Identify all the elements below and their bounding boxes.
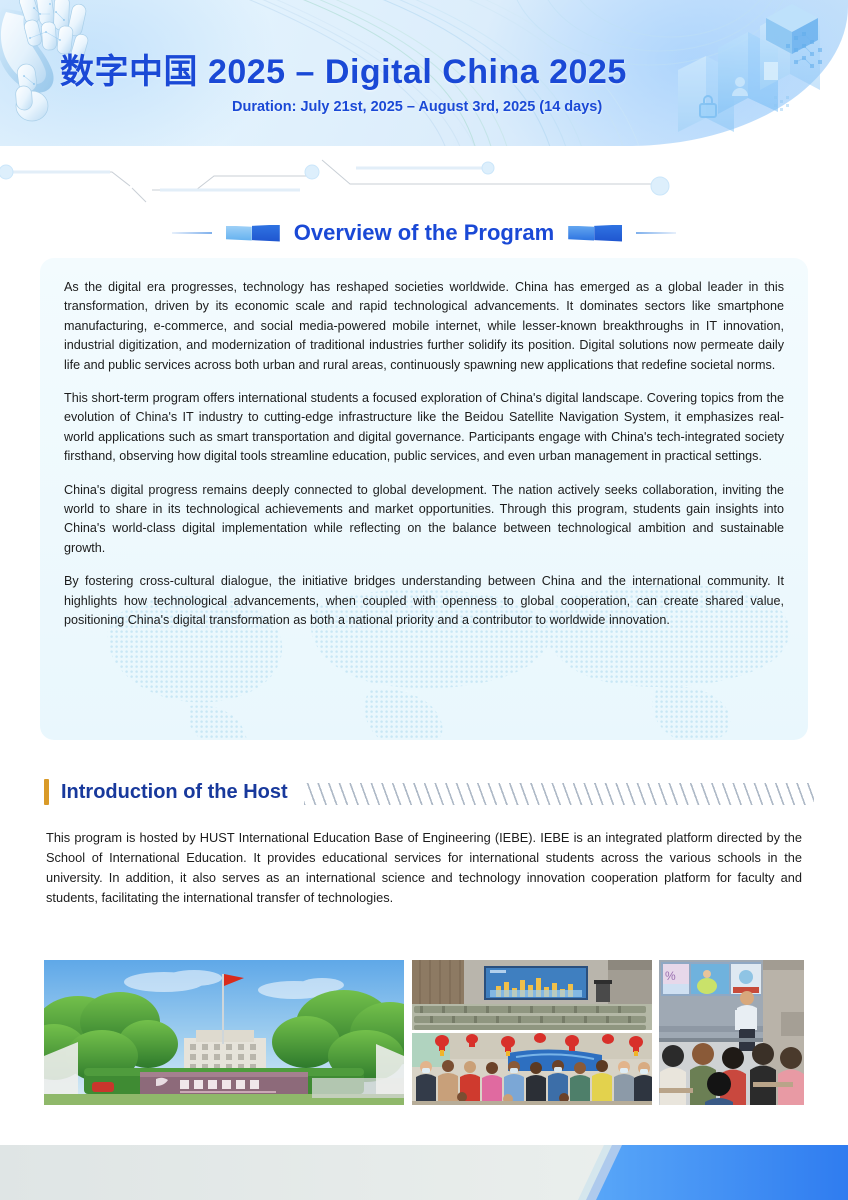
host-section-heading: Introduction of the Host (44, 776, 814, 808)
heading-rule-left (172, 232, 212, 234)
overview-paragraph-2: This short-term program offers internati… (64, 389, 784, 467)
overview-title: Overview of the Program (294, 220, 554, 246)
lecture-hall-photo (412, 960, 652, 1030)
page-header: 数字中国 2025 – Digital China 2025 Duration:… (0, 0, 848, 146)
page-title: 数字中国 2025 – Digital China 2025 (60, 44, 627, 93)
ribbon-icon-left (226, 225, 280, 242)
host-paragraph: This program is hosted by HUST Internati… (46, 828, 802, 908)
overview-paragraph-1: As the digital era progresses, technolog… (64, 278, 784, 375)
overview-text: As the digital era progresses, technolog… (64, 278, 784, 631)
campus-gate-photo (44, 960, 404, 1105)
header-title-block: 数字中国 2025 – Digital China 2025 Duration:… (0, 0, 848, 146)
overview-section-heading: Overview of the Program (0, 212, 848, 254)
svg-text:%: % (665, 969, 676, 983)
heading-rule-right (636, 232, 676, 234)
overview-paragraph-4: By fostering cross-cultural dialogue, th… (64, 572, 784, 630)
circuit-decoration (0, 146, 848, 206)
international-students-group-photo (412, 1033, 652, 1105)
program-duration: Duration: July 21st, 2025 – August 3rd, … (232, 99, 602, 115)
host-accent-bar (44, 779, 49, 805)
ribbon-icon-right (568, 225, 622, 242)
hatch-decoration (304, 783, 814, 805)
overview-panel: As the digital era progresses, technolog… (40, 258, 808, 740)
overview-paragraph-3: China's digital progress remains deeply … (64, 481, 784, 559)
host-title: Introduction of the Host (61, 781, 288, 804)
classroom-lecture-photo: % (659, 960, 804, 1105)
photo-gallery: % (44, 960, 804, 1105)
page-footer (0, 1135, 848, 1200)
